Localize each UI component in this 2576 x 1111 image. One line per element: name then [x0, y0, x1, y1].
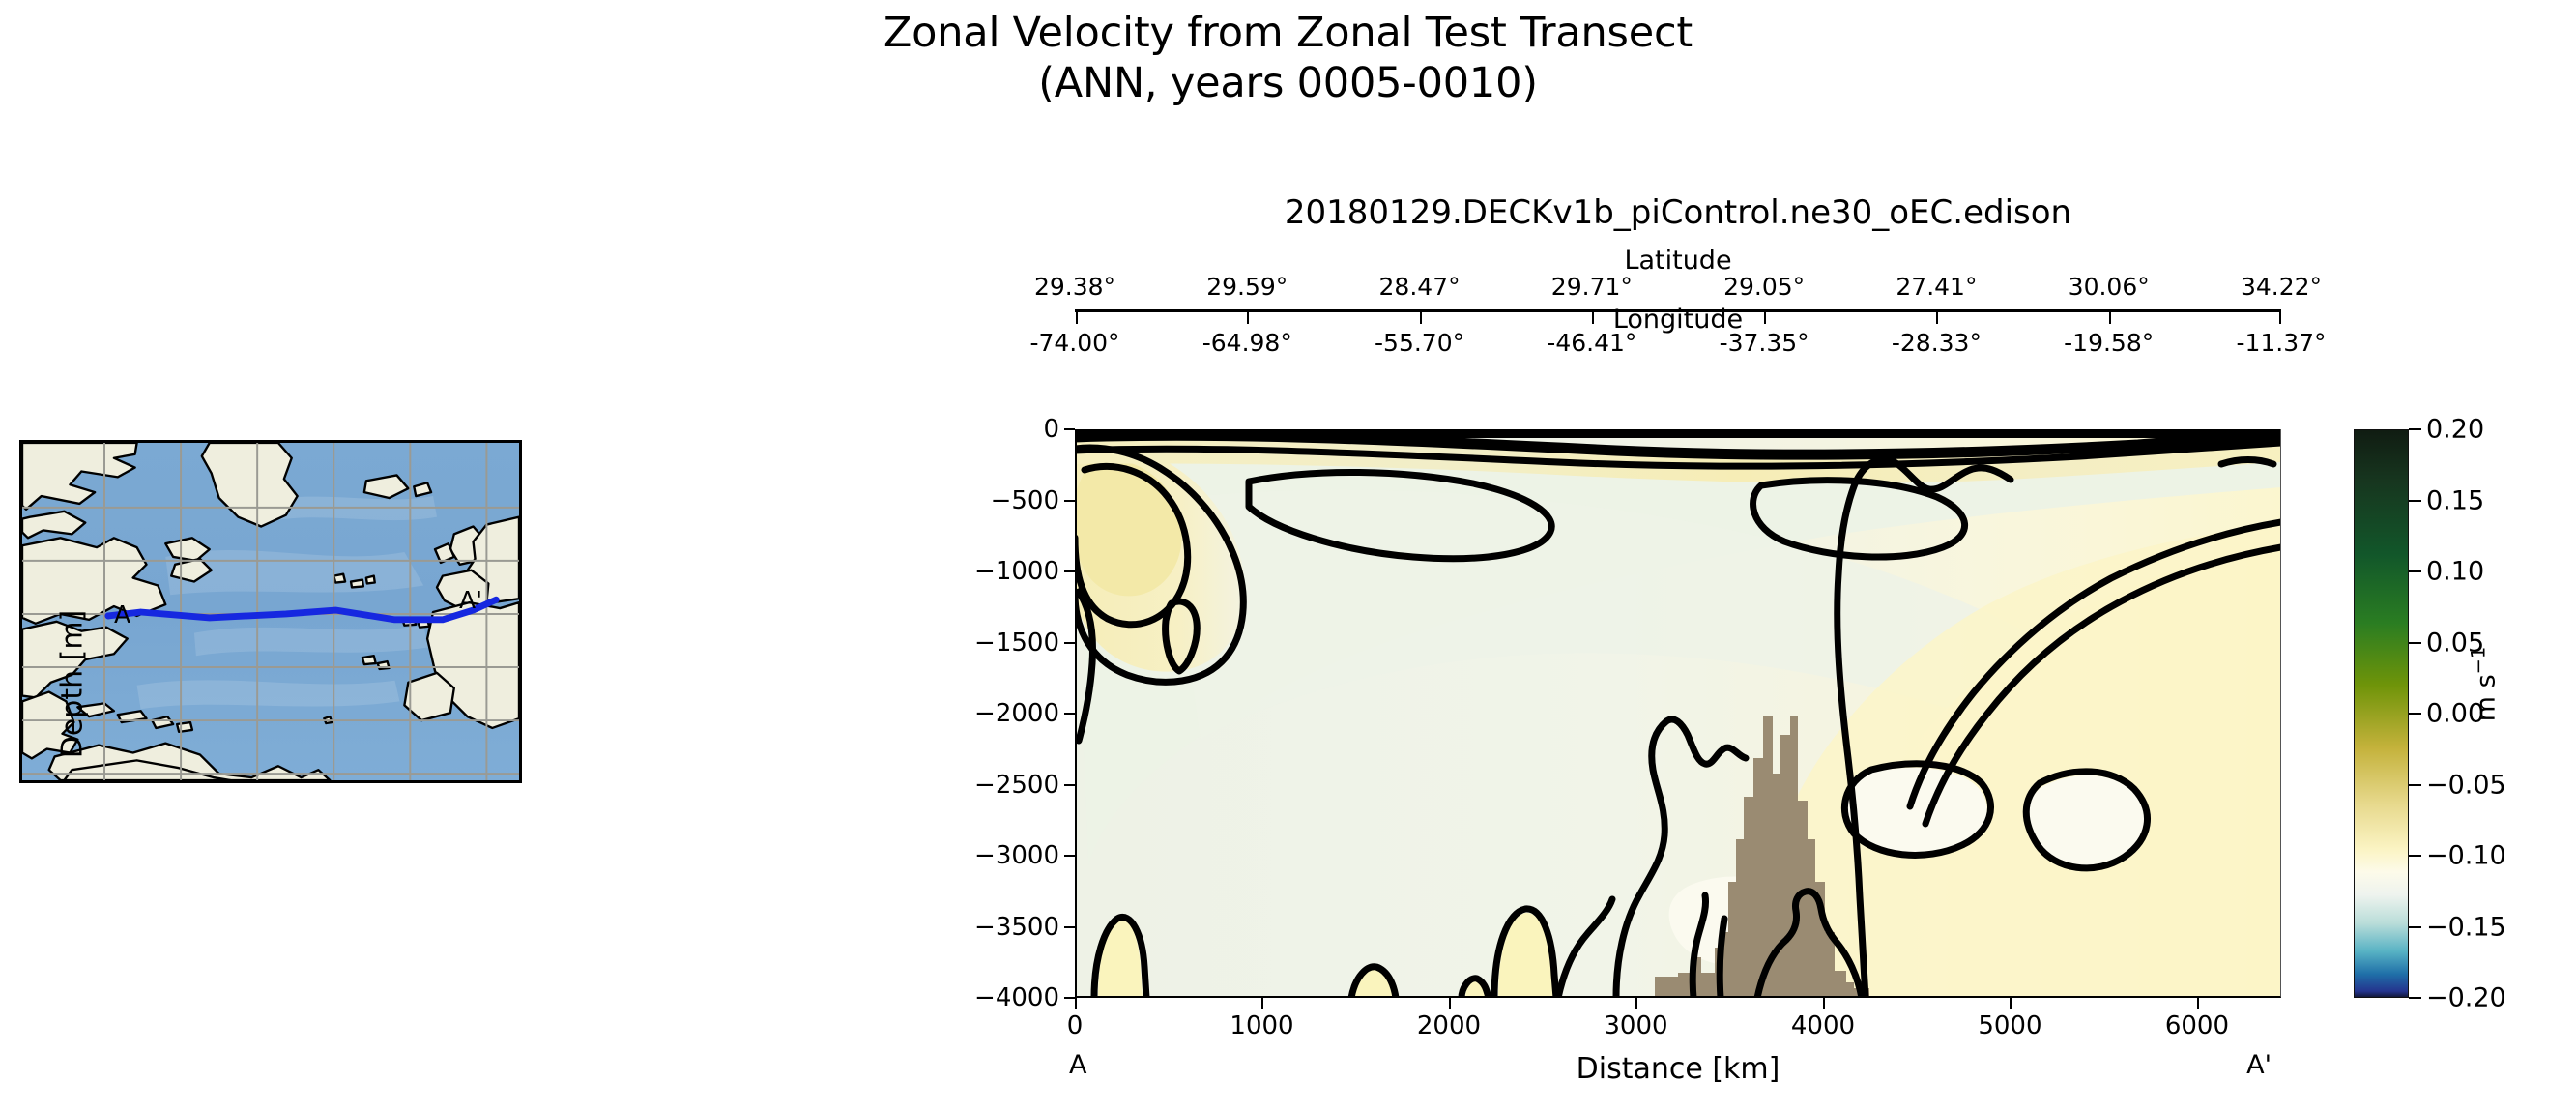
depth-axis-ticklabel: −1000: [974, 557, 1059, 586]
latitude-axis-ticklabels: 29.38°29.59°28.47°29.71°29.05°27.41°30.0…: [1075, 273, 2281, 302]
contour-field-svg: [1075, 429, 2281, 998]
colorbar-tick: [2409, 428, 2421, 430]
lat-ticklabel: 29.59°: [1206, 273, 1288, 301]
lon-ticklabel: -55.70°: [1375, 329, 1464, 357]
lat-ticklabel: 29.38°: [1034, 273, 1115, 301]
depth-axis-ticklabel: −1500: [974, 629, 1059, 658]
lat-ticklabel: 30.06°: [2069, 273, 2150, 301]
depth-axis-ticklabel: −3000: [974, 841, 1059, 870]
lon-ticklabel: -37.35°: [1720, 329, 1809, 357]
colorbar-ticklabel: 0.15: [2426, 485, 2484, 515]
depth-axis-ticklabel: −3500: [974, 913, 1059, 942]
depth-axis-tick: [1064, 642, 1075, 644]
depth-axis-ticklabel: −500: [991, 486, 1059, 515]
colorbar-label-text: m s: [2472, 674, 2502, 721]
depth-axis-tick: [1064, 997, 1075, 999]
depth-axis-ticklabel: −4000: [974, 983, 1059, 1012]
figure-title: Zonal Velocity from Zonal Test Transect …: [0, 8, 2576, 109]
distance-axis-tick: [2010, 998, 2012, 1009]
lon-ticklabel: -28.33°: [1892, 329, 1982, 357]
lon-ticklabel: -64.98°: [1202, 329, 1292, 357]
colorbar-tick: [2409, 784, 2421, 786]
map-label-a: A: [114, 600, 130, 629]
map-transect-start-point: [105, 612, 112, 619]
colorbar-ticklabel: −0.10: [2426, 841, 2506, 871]
run-name-subtitle: 20180129.DECKv1b_piControl.ne30_oEC.edis…: [1075, 193, 2281, 232]
distance-axis-ticklabel: 6000: [2165, 1011, 2229, 1040]
colorbar-label: m s−1: [2468, 540, 2502, 830]
colorbar-tick: [2409, 570, 2421, 572]
depth-axis-label: Depth [m]: [56, 414, 90, 955]
colorbar-tick: [2409, 713, 2421, 715]
depth-axis-tick: [1064, 428, 1075, 430]
transect-location-map[interactable]: A A': [19, 440, 522, 783]
depth-axis-ticklabel: −2000: [974, 699, 1059, 728]
transect-endpoint-a: A: [1069, 1050, 1086, 1080]
latitude-axis-title: Latitude: [1075, 246, 2281, 276]
distance-axis-tick: [2197, 998, 2199, 1009]
distance-axis-tick: [1823, 998, 1825, 1009]
lon-ticklabel: -74.00°: [1029, 329, 1119, 357]
colorbar-label-exponent: −1: [2468, 647, 2490, 675]
distance-axis-tick: [1261, 998, 1263, 1009]
distance-axis-ticklabel: 4000: [1791, 1011, 1855, 1040]
colorbar[interactable]: [2354, 429, 2409, 998]
depth-axis-ticklabel: 0: [1043, 415, 1059, 444]
distance-axis-tick: [1449, 998, 1451, 1009]
distance-axis-tick: [1635, 998, 1637, 1009]
distance-axis-ticklabel: 0: [1067, 1011, 1084, 1040]
depth-axis-ticklabels: 0−500−1000−1500−2000−2500−3000−3500−4000: [918, 429, 1059, 998]
distance-axis-ticklabel: 3000: [1604, 1011, 1667, 1040]
map-svg: [22, 443, 519, 780]
lon-ticklabel: -11.37°: [2236, 329, 2326, 357]
colorbar-tick: [2409, 642, 2421, 644]
transect-endpoint-a-prime: A': [2246, 1050, 2272, 1080]
colorbar-tick: [2409, 500, 2421, 502]
longitude-axis-ticklabels: -74.00°-64.98°-55.70°-46.41°-37.35°-28.3…: [1075, 329, 2281, 358]
map-label-a-prime: A': [459, 586, 482, 614]
colorbar-ticklabel: −0.20: [2426, 983, 2506, 1013]
plot-top-spine: [1075, 429, 2281, 438]
figure-title-line1: Zonal Velocity from Zonal Test Transect: [883, 9, 1693, 57]
lat-ticklabel: 28.47°: [1379, 273, 1461, 301]
distance-axis-ticklabels: 0100020003000400050006000: [1075, 1011, 2281, 1044]
colorbar-ticklabel: 0.20: [2426, 415, 2484, 445]
distance-axis-tick: [1075, 998, 1077, 1009]
depth-axis-ticks: [1064, 429, 1075, 998]
lat-ticklabel: 34.22°: [2241, 273, 2322, 301]
distance-axis-ticklabel: 5000: [1978, 1011, 2041, 1040]
colorbar-ticks: [2409, 429, 2422, 998]
depth-axis-tick: [1064, 784, 1075, 786]
depth-axis-tick: [1064, 926, 1075, 928]
colorbar-tick: [2409, 855, 2421, 857]
distance-axis-ticklabel: 2000: [1417, 1011, 1481, 1040]
depth-axis-tick: [1064, 570, 1075, 572]
lat-ticklabel: 29.05°: [1723, 273, 1805, 301]
depth-axis-tick: [1064, 500, 1075, 502]
colorbar-tick: [2409, 997, 2421, 999]
distance-axis-label: Distance [km]: [1075, 1052, 2281, 1086]
figure-title-line2: (ANN, years 0005-0010): [0, 58, 2576, 108]
lat-ticklabel: 27.41°: [1896, 273, 1977, 301]
lon-ticklabel: -19.58°: [2064, 329, 2154, 357]
depth-axis-tick: [1064, 713, 1075, 715]
lon-ticklabel: -46.41°: [1547, 329, 1636, 357]
transect-contour-plot[interactable]: [1075, 429, 2281, 998]
depth-axis-tick: [1064, 855, 1075, 857]
lat-ticklabel: 29.71°: [1551, 273, 1633, 301]
depth-axis-ticklabel: −2500: [974, 771, 1059, 800]
distance-axis-ticklabel: 1000: [1230, 1011, 1293, 1040]
colorbar-ticklabel: −0.15: [2426, 912, 2506, 942]
distance-axis-ticks: [1075, 998, 2281, 1009]
colorbar-tick: [2409, 926, 2421, 928]
